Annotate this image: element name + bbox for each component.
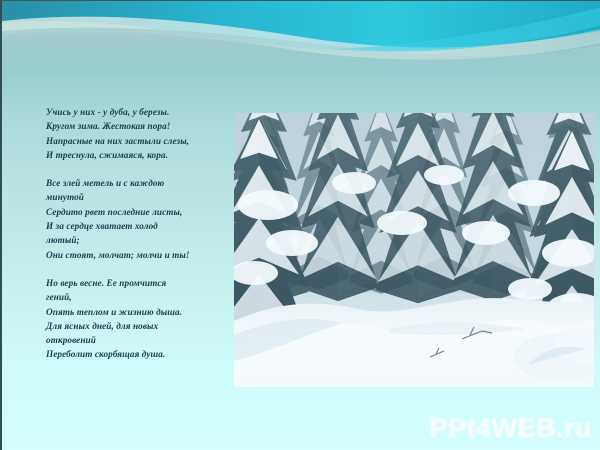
winter-forest-photo <box>234 113 594 387</box>
poem-line: гений, <box>46 290 231 304</box>
presentation-slide: Учись у них - у дуба, у березы. Кругом з… <box>0 0 600 450</box>
poem-line: Опять теплом и жизнию дыша. <box>46 305 231 319</box>
watermark-text: PPt4WEB.ru <box>429 413 592 444</box>
poem-line: Они стоят, молчат; молчи и ты! <box>46 248 231 262</box>
poem-stanza: Учись у них - у дуба, у березы. Кругом з… <box>46 105 231 162</box>
poem-line: Но верь весне. Ее промчится <box>46 276 231 290</box>
poem-line: Сердито рвет последние листы, <box>46 205 231 219</box>
decorative-wave-banner <box>2 1 600 71</box>
poem-stanza: Но верь весне. Ее промчится гений, Опять… <box>46 276 231 362</box>
poem-line: Напрасные на них застыли слезы, <box>46 134 231 148</box>
poem-stanza: Все злей метель и с каждою минутой Серди… <box>46 176 231 262</box>
poem-line: Переболит скорбящая душа. <box>46 347 231 361</box>
poem-line: И за сердце хватает холод <box>46 219 231 233</box>
poem-text-block: Учись у них - у дуба, у березы. Кругом з… <box>46 105 231 376</box>
poem-line: Для ясных дней, для новых <box>46 319 231 333</box>
poem-line: минутой <box>46 190 231 204</box>
poem-line: откровений <box>46 333 231 347</box>
poem-line: И треснула, сжимаяся, кора. <box>46 148 231 162</box>
poem-line: Кругом зима. Жестокая пора! <box>46 119 231 133</box>
poem-line: лютый; <box>46 233 231 247</box>
poem-line: Учись у них - у дуба, у березы. <box>46 105 231 119</box>
poem-line: Все злей метель и с каждою <box>46 176 231 190</box>
